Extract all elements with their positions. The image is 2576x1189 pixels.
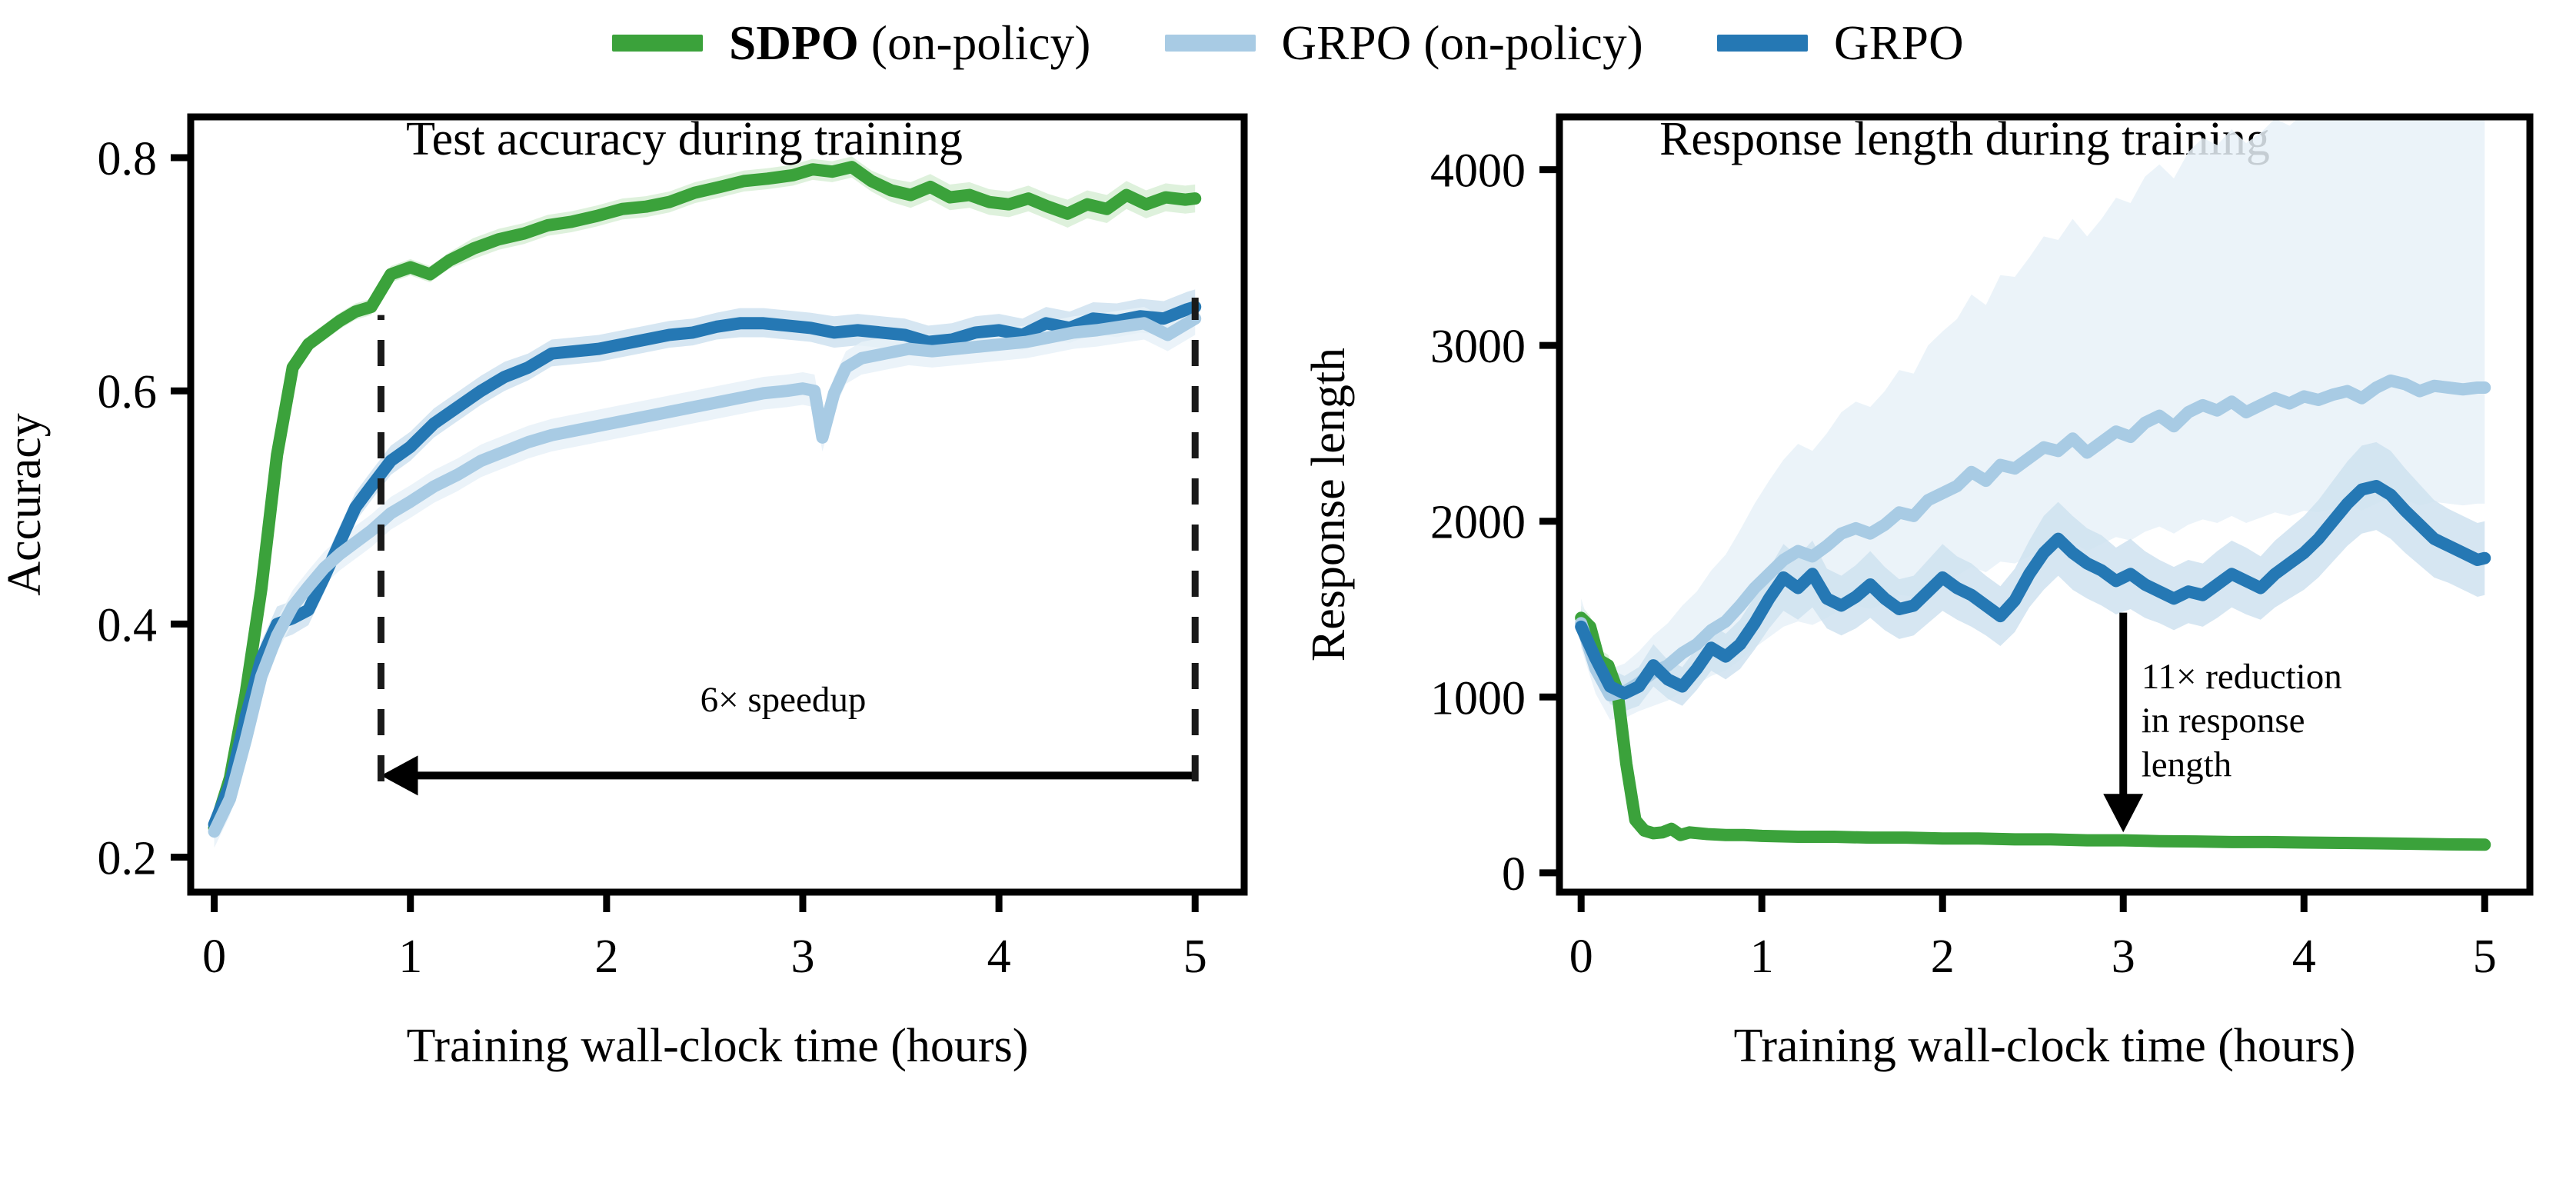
legend-label-grpo-on-policy: GRPO (on-policy) bbox=[1282, 19, 1643, 68]
legend-item-sdpo-on-policy: SDPO (on-policy) bbox=[612, 19, 1090, 68]
y-tick-label: 0.2 bbox=[98, 833, 158, 885]
y-tick-label: 3000 bbox=[1430, 321, 1526, 373]
x-tick-label: 2 bbox=[594, 931, 618, 983]
x-tick-label: 2 bbox=[1931, 931, 1955, 983]
x-tick-label: 4 bbox=[2292, 931, 2316, 983]
band-grpo bbox=[215, 289, 1196, 839]
figure-legend: SDPO (on-policy) GRPO (on-policy) GRPO bbox=[0, 0, 2576, 86]
x-tick-label: 1 bbox=[398, 931, 422, 983]
y-axis-title: Response length bbox=[1303, 348, 1355, 661]
reduction-arrow-head bbox=[2103, 794, 2143, 832]
x-tick-label: 3 bbox=[2112, 931, 2135, 983]
y-axis-title: Accuracy bbox=[0, 413, 51, 596]
band-grpo-on-policy bbox=[215, 302, 1196, 848]
x-tick-label: 0 bbox=[202, 931, 226, 983]
y-tick-label: 0 bbox=[1502, 848, 1526, 901]
legend-swatch-sdpo bbox=[612, 35, 703, 52]
x-tick-label: 4 bbox=[987, 931, 1011, 983]
x-tick-label: 0 bbox=[1569, 931, 1593, 983]
legend-item-grpo: GRPO bbox=[1717, 19, 1964, 68]
y-tick-label: 4000 bbox=[1430, 145, 1526, 198]
legend-swatch-grpo-on-policy bbox=[1165, 35, 1256, 52]
panel-test-accuracy: Test accuracy during training 6× speedup… bbox=[0, 86, 1300, 1189]
legend-item-grpo-on-policy: GRPO (on-policy) bbox=[1165, 19, 1643, 68]
y-tick-label: 0.6 bbox=[98, 366, 158, 418]
panel-response-length: Response length during training 11× redu… bbox=[1300, 86, 2576, 1189]
figure-root: SDPO (on-policy) GRPO (on-policy) GRPO T… bbox=[0, 0, 2576, 1189]
y-tick-label: 2000 bbox=[1430, 497, 1526, 549]
x-axis-title: Training wall-clock time (hours) bbox=[1734, 1020, 2356, 1072]
legend-swatch-grpo bbox=[1717, 35, 1808, 52]
legend-label-sdpo: SDPO (on-policy) bbox=[729, 19, 1090, 68]
plot-test-accuracy: 6× speedup0123450.20.40.60.8Training wal… bbox=[0, 86, 1300, 1189]
x-tick-label: 5 bbox=[2473, 931, 2497, 983]
x-tick-label: 5 bbox=[1183, 931, 1207, 983]
y-tick-label: 0.4 bbox=[98, 599, 158, 651]
legend-label-grpo: GRPO bbox=[1834, 19, 1964, 68]
x-tick-label: 3 bbox=[790, 931, 814, 983]
speedup-arrow-head bbox=[381, 755, 418, 795]
reduction-label: 11× reductionin responselength bbox=[2142, 657, 2342, 785]
x-tick-label: 1 bbox=[1750, 931, 1774, 983]
speedup-label: 6× speedup bbox=[701, 680, 867, 720]
plot-response-length: 11× reductionin responselength0123450100… bbox=[1300, 86, 2576, 1189]
x-axis-title: Training wall-clock time (hours) bbox=[407, 1020, 1029, 1072]
y-tick-label: 1000 bbox=[1430, 672, 1526, 724]
series-line-grpo bbox=[215, 307, 1196, 824]
y-tick-label: 0.8 bbox=[98, 133, 158, 185]
